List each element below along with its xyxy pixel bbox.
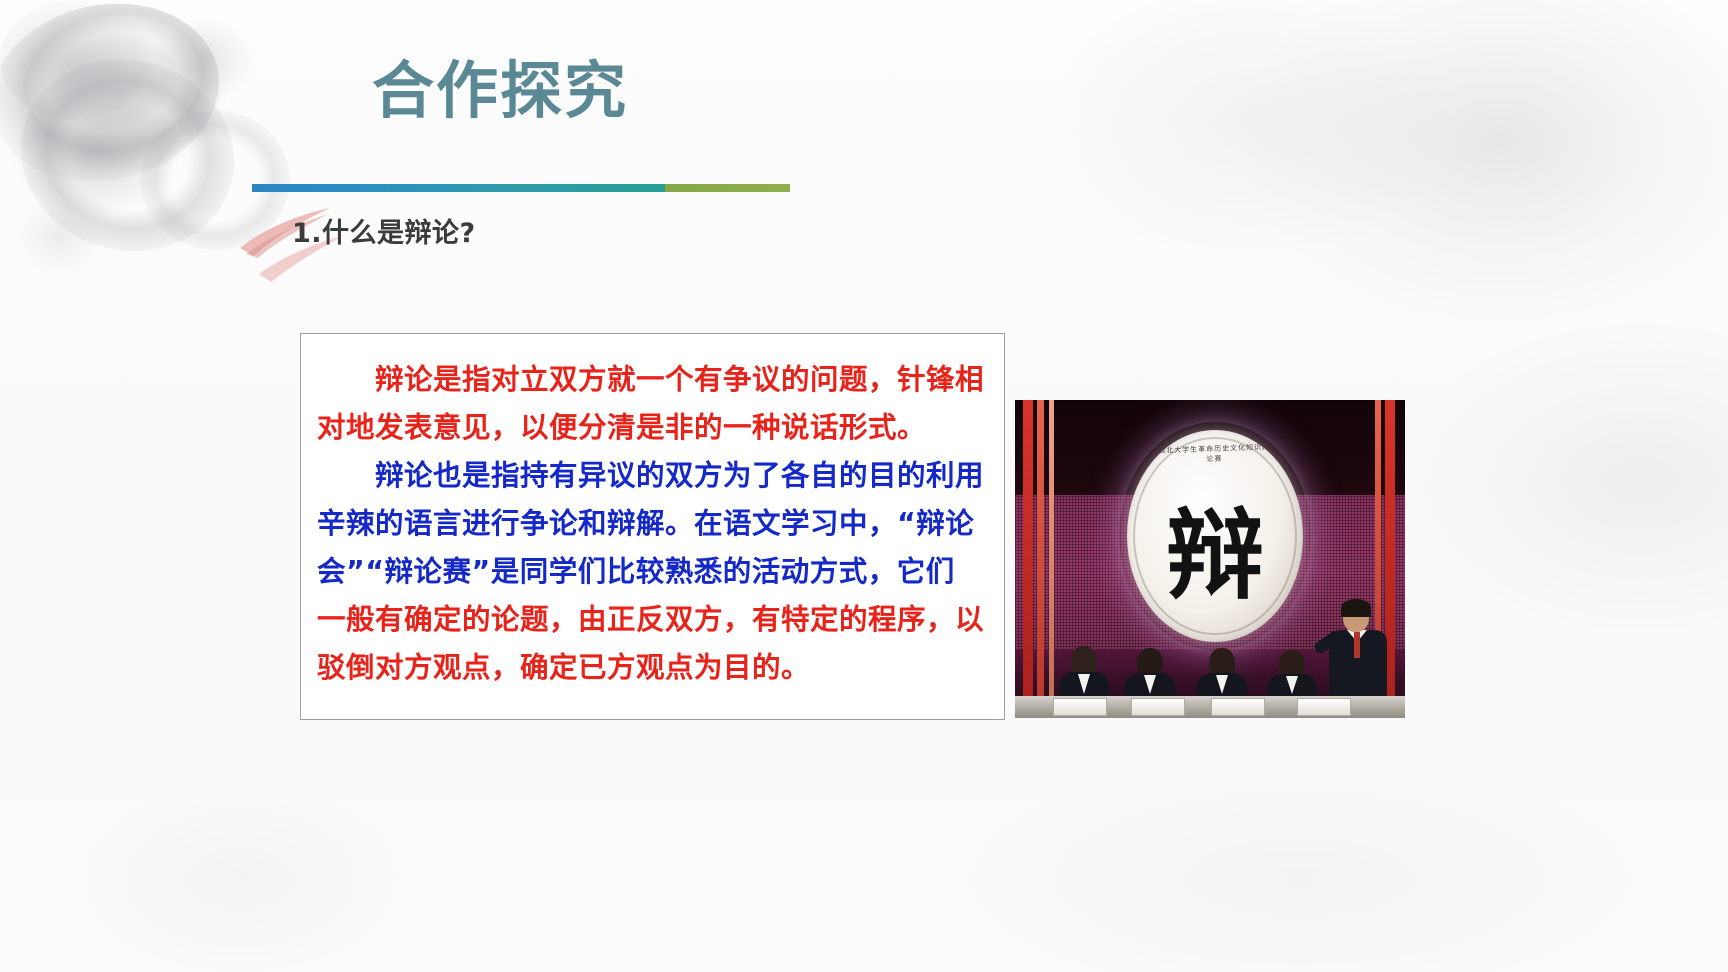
- divider-segment-green: [665, 184, 790, 192]
- photo-inner: 西安西北大学生革命历史文化知识网络辩论赛 辩: [1015, 400, 1405, 718]
- emblem-character: 辩: [1127, 470, 1303, 642]
- ink-wash-blob-4: [140, 110, 290, 250]
- definition-line: 辩论也是指持有异议的双方为了各自的目的利用: [317, 452, 988, 500]
- ink-wash-blob-2: [0, 34, 257, 276]
- definition-line: 一般有确定的论题，由正反双方，有特定的程序，以: [317, 596, 988, 644]
- speaker-tie: [1354, 632, 1360, 658]
- definition-line: 辛辣的语言进行争论和辩解。在语文学习中，“辩论: [317, 500, 988, 548]
- page-title: 合作探究: [372, 55, 628, 126]
- name-card: [1053, 698, 1107, 716]
- stage-red-stripe: [1049, 400, 1054, 718]
- ink-wash-blob-3: [0, 0, 150, 120]
- speaker-hair: [1341, 599, 1371, 617]
- definition-line: 会”“辩论赛”是同学们比较熟悉的活动方式，它们: [317, 548, 988, 596]
- slide-canvas: 合作探究 1.什么是辩论? 辩论是指对立双方就一个有争议的问题，针锋相 对地发表…: [0, 0, 1728, 972]
- divider-segment-blue: [252, 184, 665, 192]
- name-card: [1297, 698, 1351, 716]
- debate-emblem: 西安西北大学生革命历史文化知识网络辩论赛 辩: [1127, 430, 1303, 642]
- title-divider-bar: [252, 184, 790, 192]
- definition-line: 驳倒对方观点，确定已方观点为目的。: [317, 644, 988, 692]
- definition-line: 对地发表意见，以便分清是非的一种说话形式。: [317, 404, 988, 452]
- definition-line: 辩论是指对立双方就一个有争议的问题，针锋相: [317, 356, 988, 404]
- stage-red-stripe: [1023, 400, 1033, 718]
- name-card: [1131, 698, 1185, 716]
- definition-textbox: 辩论是指对立双方就一个有争议的问题，针锋相 对地发表意见，以便分清是非的一种说话…: [300, 333, 1005, 720]
- stage-red-stripe: [1037, 400, 1044, 718]
- debate-competition-photo: 西安西北大学生革命历史文化知识网络辩论赛 辩: [1015, 400, 1405, 718]
- question-heading: 1.什么是辩论?: [292, 211, 476, 250]
- ink-wash-blob-1: [0, 0, 236, 202]
- name-card: [1211, 698, 1265, 716]
